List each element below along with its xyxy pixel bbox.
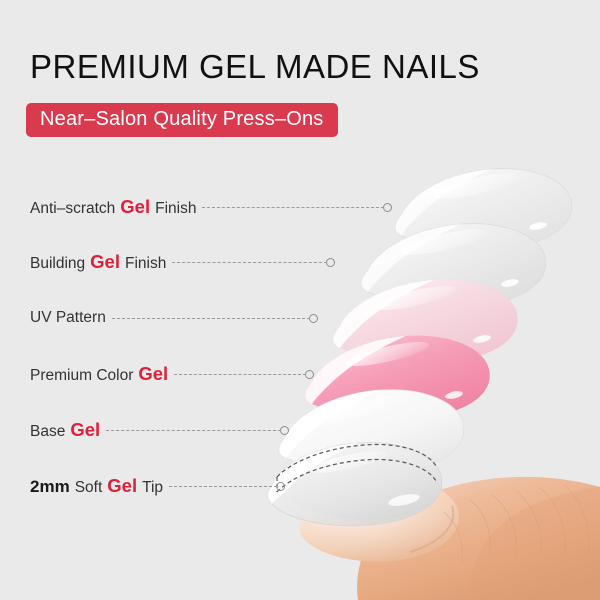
label-word: Finish bbox=[155, 201, 196, 217]
leader-endpoint-dot bbox=[305, 370, 314, 379]
page-title: PREMIUM GEL MADE NAILS bbox=[30, 50, 480, 83]
leader-line bbox=[174, 374, 306, 376]
thickness-callout-dashes bbox=[277, 444, 437, 492]
natural-nail bbox=[300, 477, 459, 561]
label-text: Premium Color Gel bbox=[30, 365, 168, 384]
label-row-base-gel: Base Gel bbox=[30, 419, 289, 441]
label-text: Building Gel Finish bbox=[30, 253, 166, 272]
label-text: Base Gel bbox=[30, 421, 100, 440]
leader-line bbox=[202, 207, 384, 209]
nail-layer-stack-illustration bbox=[0, 0, 600, 600]
label-word-thickness: 2mm bbox=[30, 478, 70, 495]
label-word: Soft bbox=[75, 480, 103, 496]
label-word: Building bbox=[30, 256, 85, 272]
label-word: Premium Color bbox=[30, 368, 133, 384]
label-word-gel: Gel bbox=[107, 477, 137, 496]
leader-line bbox=[112, 318, 310, 320]
label-word: UV Pattern bbox=[30, 310, 106, 326]
subtitle-badge: Near–Salon Quality Press–Ons bbox=[26, 103, 338, 137]
layer-shape-soft-gel-tip bbox=[268, 443, 442, 526]
leader-line bbox=[169, 486, 277, 488]
label-word-gel: Gel bbox=[138, 365, 168, 384]
label-word-gel: Gel bbox=[90, 253, 120, 272]
layer-shape-uv-pattern bbox=[333, 280, 518, 363]
skin-creases bbox=[444, 485, 589, 562]
label-text: 2mm Soft Gel Tip bbox=[30, 477, 163, 496]
label-word-gel: Gel bbox=[120, 198, 150, 217]
label-text: Anti–scratch Gel Finish bbox=[30, 198, 196, 217]
label-word: Anti–scratch bbox=[30, 201, 115, 217]
label-row-premium-color-gel: Premium Color Gel bbox=[30, 363, 314, 385]
layer-shape-base-gel bbox=[279, 390, 464, 473]
layer-shape-premium-color-gel bbox=[305, 336, 490, 419]
leader-line bbox=[172, 262, 327, 264]
label-word: Finish bbox=[125, 256, 166, 272]
label-word-gel: Gel bbox=[70, 421, 100, 440]
label-row-building-gel-finish: Building Gel Finish bbox=[30, 251, 335, 273]
label-word: Tip bbox=[142, 480, 163, 496]
label-row-uv-pattern: UV Pattern bbox=[30, 307, 318, 329]
leader-endpoint-dot bbox=[326, 258, 335, 267]
leader-endpoint-dot bbox=[309, 314, 318, 323]
label-word: Base bbox=[30, 424, 65, 440]
layer-shape-building-gel-finish bbox=[361, 224, 546, 307]
fingertip-illustration bbox=[300, 477, 600, 600]
label-row-soft-gel-tip: 2mm Soft Gel Tip bbox=[30, 475, 285, 497]
layer-shape-anti-scratch-gel-finish bbox=[395, 168, 572, 249]
product-infographic-poster: PREMIUM GEL MADE NAILS Near–Salon Qualit… bbox=[0, 0, 600, 600]
leader-endpoint-dot bbox=[383, 203, 392, 212]
leader-line bbox=[106, 430, 281, 432]
leader-endpoint-dot bbox=[280, 426, 289, 435]
leader-endpoint-dot bbox=[276, 482, 285, 491]
label-text: UV Pattern bbox=[30, 310, 106, 326]
label-row-anti-scratch-gel-finish: Anti–scratch Gel Finish bbox=[30, 196, 392, 218]
